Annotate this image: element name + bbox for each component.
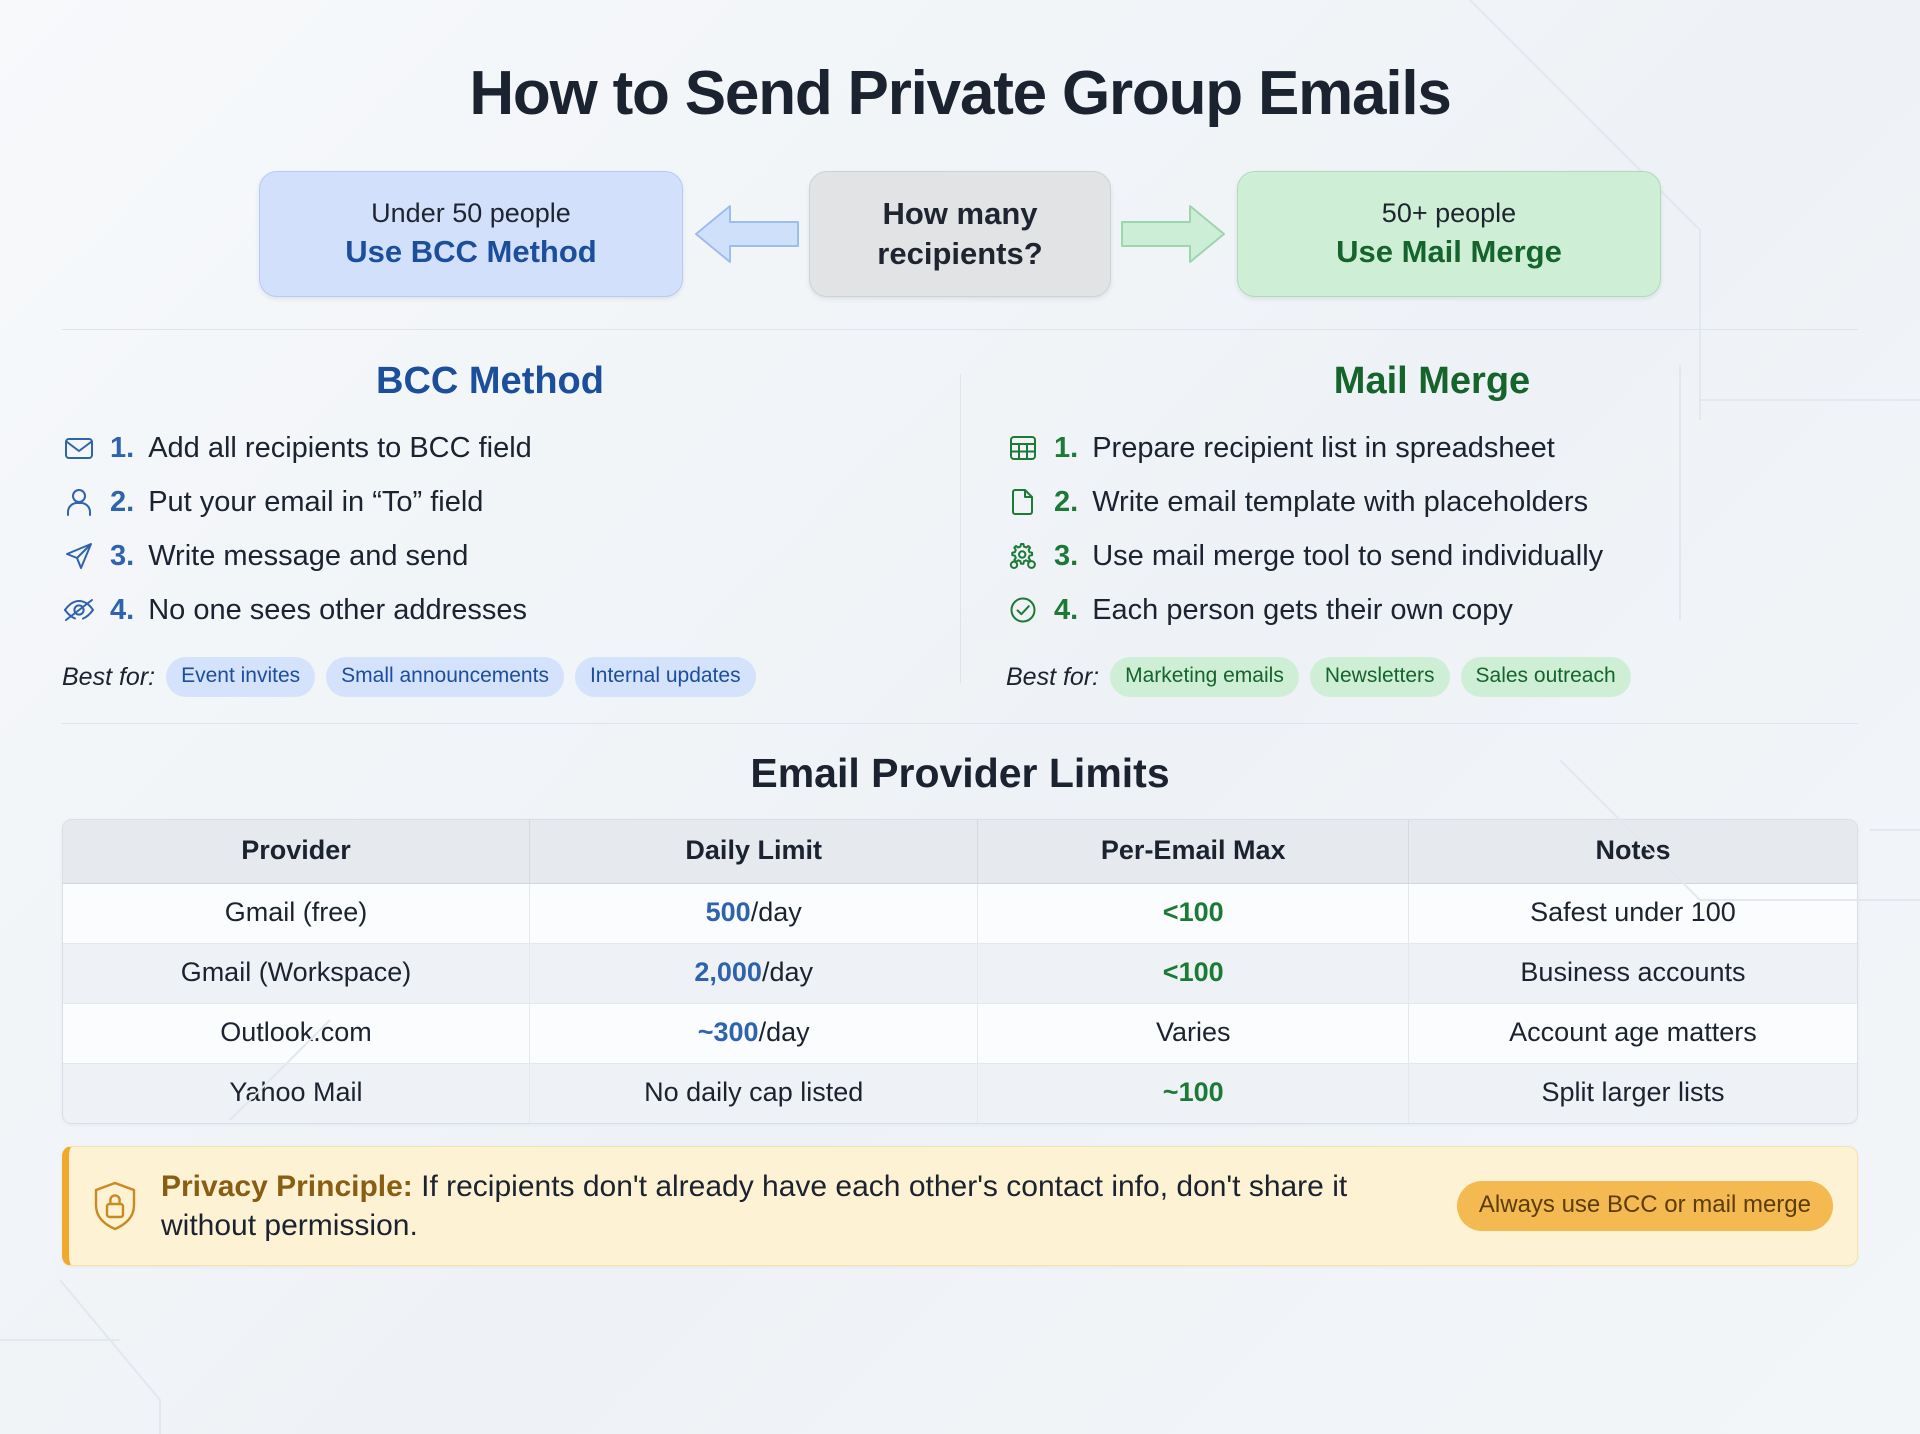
- bcc-step-1-number: 1.: [110, 432, 134, 465]
- bcc-step-4: 4. No one sees other addresses: [62, 587, 918, 633]
- mailmerge-step-2-text: Write email template with placeholders: [1092, 486, 1588, 519]
- limit-value: 2,000: [694, 957, 762, 987]
- bcc-step-2-text: Put your email in “To” field: [148, 486, 483, 519]
- mailmerge-step-1: 1. Prepare recipient list in spreadsheet: [1006, 425, 1858, 471]
- infographic-root: How to Send Private Group Emails Under 5…: [0, 0, 1920, 1434]
- privacy-badge[interactable]: Always use BCC or mail merge: [1457, 1181, 1833, 1231]
- mailmerge-step-1-number: 1.: [1054, 432, 1078, 465]
- bcc-step-1-text: Add all recipients to BCC field: [148, 432, 532, 465]
- table-header-row: Provider Daily Limit Per-Email Max Notes: [63, 820, 1857, 884]
- cell-daily-limit: No daily cap listed: [529, 1064, 978, 1124]
- divider-bottom: [62, 723, 1858, 724]
- limit-value: ~300: [698, 1017, 759, 1047]
- mailmerge-method-title: Mail Merge: [1006, 360, 1858, 403]
- table-title: Email Provider Limits: [0, 750, 1920, 797]
- max-value: Varies: [1156, 1017, 1231, 1047]
- column-header-provider: Provider: [63, 820, 529, 884]
- bcc-method-column: BCC Method 1. Add all recipients to BCC …: [62, 360, 960, 697]
- divider-top: [62, 329, 1858, 330]
- send-icon: [62, 540, 96, 572]
- table-row: Gmail (Workspace) 2,000/day <100 Busines…: [63, 944, 1857, 1004]
- privacy-principle-text: Privacy Principle: If recipients don't a…: [161, 1167, 1437, 1245]
- mailmerge-best-for-label: Best for:: [1006, 663, 1099, 692]
- table-row: Outlook.com ~300/day Varies Account age …: [63, 1004, 1857, 1064]
- privacy-principle-lead: Privacy Principle:: [161, 1170, 413, 1203]
- mailmerge-tag-1[interactable]: Marketing emails: [1110, 657, 1299, 697]
- column-header-notes: Notes: [1408, 820, 1857, 884]
- cell-provider: Gmail (free): [63, 884, 529, 944]
- decision-box-question[interactable]: How many recipients?: [809, 171, 1111, 297]
- page-title: How to Send Private Group Emails: [0, 0, 1920, 129]
- bcc-method-title: BCC Method: [62, 360, 918, 403]
- mailmerge-steps-list: 1. Prepare recipient list in spreadsheet…: [1006, 425, 1858, 633]
- methods-section: BCC Method 1. Add all recipients to BCC …: [0, 360, 1920, 697]
- mailmerge-step-1-text: Prepare recipient list in spreadsheet: [1092, 432, 1555, 465]
- decision-box-bcc-condition: Under 50 people: [371, 198, 571, 229]
- cell-daily-limit: ~300/day: [529, 1004, 978, 1064]
- mailmerge-method-column: Mail Merge 1. Prepare recipient list in …: [960, 360, 1858, 697]
- bcc-step-4-text: No one sees other addresses: [148, 594, 527, 627]
- question-line-1: How many: [882, 196, 1037, 231]
- mailmerge-tag-2[interactable]: Newsletters: [1310, 657, 1450, 697]
- table-row: Gmail (free) 500/day <100 Safest under 1…: [63, 884, 1857, 944]
- bcc-best-for-label: Best for:: [62, 663, 155, 692]
- decision-box-mailmerge-action: Use Mail Merge: [1336, 233, 1562, 270]
- max-value: <100: [1163, 897, 1224, 927]
- bcc-step-2: 2. Put your email in “To” field: [62, 479, 918, 525]
- decision-box-bcc-action: Use BCC Method: [345, 233, 596, 270]
- mailmerge-step-3-number: 3.: [1054, 540, 1078, 573]
- bcc-tag-2[interactable]: Small announcements: [326, 657, 564, 697]
- decision-box-mailmerge[interactable]: 50+ people Use Mail Merge: [1237, 171, 1661, 297]
- cell-daily-limit: 2,000/day: [529, 944, 978, 1004]
- mailmerge-step-4: 4. Each person gets their own copy: [1006, 587, 1858, 633]
- privacy-principle-banner: Privacy Principle: If recipients don't a…: [62, 1146, 1858, 1266]
- decision-flow: Under 50 people Use BCC Method How many …: [0, 171, 1920, 297]
- settings-icon: [1006, 540, 1040, 572]
- bcc-step-3: 3. Write message and send: [62, 533, 918, 579]
- bcc-tag-1[interactable]: Event invites: [166, 657, 315, 697]
- cell-notes: Business accounts: [1408, 944, 1857, 1004]
- mailmerge-step-3-text: Use mail merge tool to send individually: [1092, 540, 1603, 573]
- question-line-2: recipients?: [877, 236, 1042, 271]
- bcc-best-for: Best for: Event invites Small announceme…: [62, 657, 918, 697]
- limit-suffix: /day: [751, 897, 802, 927]
- bcc-step-4-number: 4.: [110, 594, 134, 627]
- mailmerge-step-4-number: 4.: [1054, 594, 1078, 627]
- cell-per-email-max: <100: [978, 944, 1409, 1004]
- arrow-left-icon: [683, 196, 809, 272]
- max-value: ~100: [1163, 1077, 1224, 1107]
- cell-notes: Account age matters: [1408, 1004, 1857, 1064]
- column-header-per-email-max: Per-Email Max: [978, 820, 1409, 884]
- decision-box-bcc[interactable]: Under 50 people Use BCC Method: [259, 171, 683, 297]
- spreadsheet-icon: [1006, 432, 1040, 464]
- column-header-daily-limit: Daily Limit: [529, 820, 978, 884]
- mailmerge-step-4-text: Each person gets their own copy: [1092, 594, 1513, 627]
- cell-per-email-max: <100: [978, 884, 1409, 944]
- mailmerge-step-3: 3. Use mail merge tool to send individua…: [1006, 533, 1858, 579]
- cell-notes: Safest under 100: [1408, 884, 1857, 944]
- arrow-right-icon: [1111, 196, 1237, 272]
- bcc-step-1: 1. Add all recipients to BCC field: [62, 425, 918, 471]
- cell-provider: Gmail (Workspace): [63, 944, 529, 1004]
- mailmerge-tag-3[interactable]: Sales outreach: [1461, 657, 1631, 697]
- table-row: Yahoo Mail No daily cap listed ~100 Spli…: [63, 1064, 1857, 1124]
- decision-box-mailmerge-condition: 50+ people: [1382, 198, 1516, 229]
- bcc-steps-list: 1. Add all recipients to BCC field 2. Pu…: [62, 425, 918, 633]
- mailmerge-step-2: 2. Write email template with placeholder…: [1006, 479, 1858, 525]
- mailmerge-best-for: Best for: Marketing emails Newsletters S…: [1006, 657, 1858, 697]
- bcc-step-3-number: 3.: [110, 540, 134, 573]
- shield-lock-icon: [89, 1180, 141, 1232]
- cell-provider: Outlook.com: [63, 1004, 529, 1064]
- mailmerge-step-2-number: 2.: [1054, 486, 1078, 519]
- limit-value: 500: [706, 897, 751, 927]
- cell-per-email-max: Varies: [978, 1004, 1409, 1064]
- cell-per-email-max: ~100: [978, 1064, 1409, 1124]
- max-value: <100: [1163, 957, 1224, 987]
- provider-limits-table: Provider Daily Limit Per-Email Max Notes…: [62, 819, 1858, 1124]
- envelope-icon: [62, 432, 96, 464]
- bcc-tag-3[interactable]: Internal updates: [575, 657, 756, 697]
- limit-suffix: No daily cap listed: [644, 1077, 863, 1107]
- bcc-step-2-number: 2.: [110, 486, 134, 519]
- limit-suffix: /day: [759, 1017, 810, 1047]
- limit-suffix: /day: [762, 957, 813, 987]
- cell-daily-limit: 500/day: [529, 884, 978, 944]
- eye-off-icon: [62, 594, 96, 626]
- check-circle-icon: [1006, 594, 1040, 626]
- user-icon: [62, 486, 96, 518]
- document-icon: [1006, 486, 1040, 518]
- bcc-step-3-text: Write message and send: [148, 540, 468, 573]
- cell-notes: Split larger lists: [1408, 1064, 1857, 1124]
- cell-provider: Yahoo Mail: [63, 1064, 529, 1124]
